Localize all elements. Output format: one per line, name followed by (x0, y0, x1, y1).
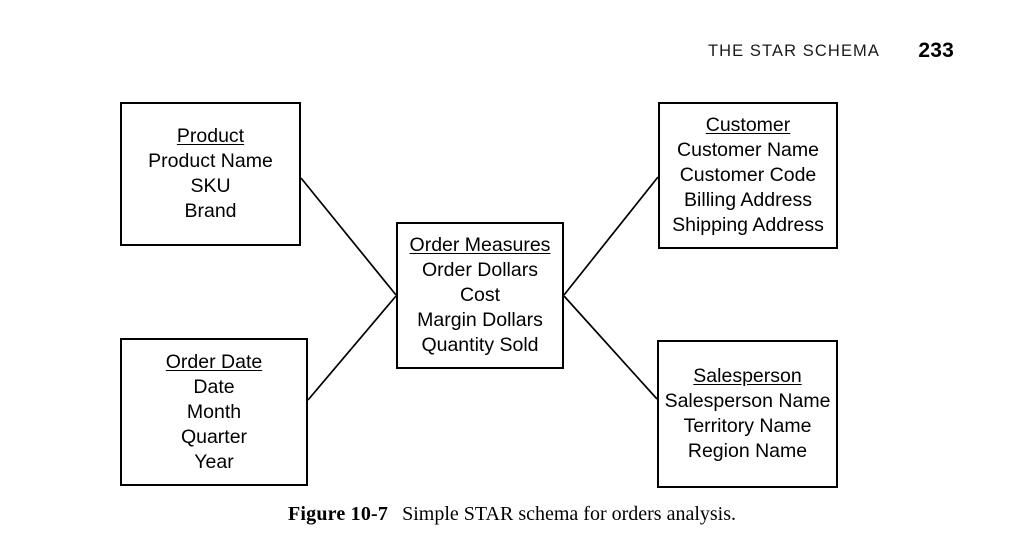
entity-attribute: Quarter (181, 425, 247, 450)
entity-attribute: Year (194, 450, 233, 475)
connector-fact-to-salesperson (564, 296, 657, 399)
entity-attribute: Salesperson Name (665, 389, 831, 414)
entity-box-product[interactable]: Product Product Name SKU Brand (120, 102, 301, 246)
connector-fact-to-customer (564, 177, 658, 295)
connector-order-date-to-fact (308, 296, 396, 400)
entity-attribute: SKU (190, 174, 230, 199)
figure-page: THE STAR SCHEMA 233 Product Product Name… (0, 0, 1024, 541)
figure-caption-text: Simple STAR schema for orders analysis. (402, 503, 736, 525)
entity-attribute: Quantity Sold (421, 333, 538, 358)
entity-title-salesperson: Salesperson (693, 364, 801, 389)
entity-attribute: Month (187, 400, 241, 425)
entity-title-customer: Customer (706, 113, 791, 138)
entity-attribute: Product Name (148, 149, 273, 174)
entity-title-order-measures: Order Measures (410, 233, 551, 258)
entity-attribute: Margin Dollars (417, 308, 543, 333)
figure-caption: Figure 10-7Simple STAR schema for orders… (0, 503, 1024, 526)
entity-box-customer[interactable]: Customer Customer Name Customer Code Bil… (658, 102, 838, 249)
entity-attribute: Brand (184, 199, 236, 224)
entity-title-order-date: Order Date (166, 350, 262, 375)
entity-attribute: Territory Name (684, 414, 812, 439)
entity-attribute: Order Dollars (422, 258, 538, 283)
figure-caption-label: Figure 10-7 (288, 503, 388, 525)
connector-product-to-fact (301, 178, 396, 295)
entity-attribute: Shipping Address (672, 213, 824, 238)
entity-attribute: Cost (460, 283, 500, 308)
entity-box-order-date[interactable]: Order Date Date Month Quarter Year (120, 338, 308, 486)
entity-attribute: Date (193, 375, 234, 400)
entity-box-salesperson[interactable]: Salesperson Salesperson Name Territory N… (657, 340, 838, 488)
entity-attribute: Customer Code (680, 163, 817, 188)
entity-attribute: Billing Address (684, 188, 812, 213)
entity-title-product: Product (177, 124, 244, 149)
entity-box-order-measures[interactable]: Order Measures Order Dollars Cost Margin… (396, 222, 564, 369)
entity-attribute: Customer Name (677, 138, 819, 163)
entity-attribute: Region Name (688, 439, 807, 464)
star-schema-diagram: Product Product Name SKU Brand Order Dat… (0, 0, 1024, 500)
